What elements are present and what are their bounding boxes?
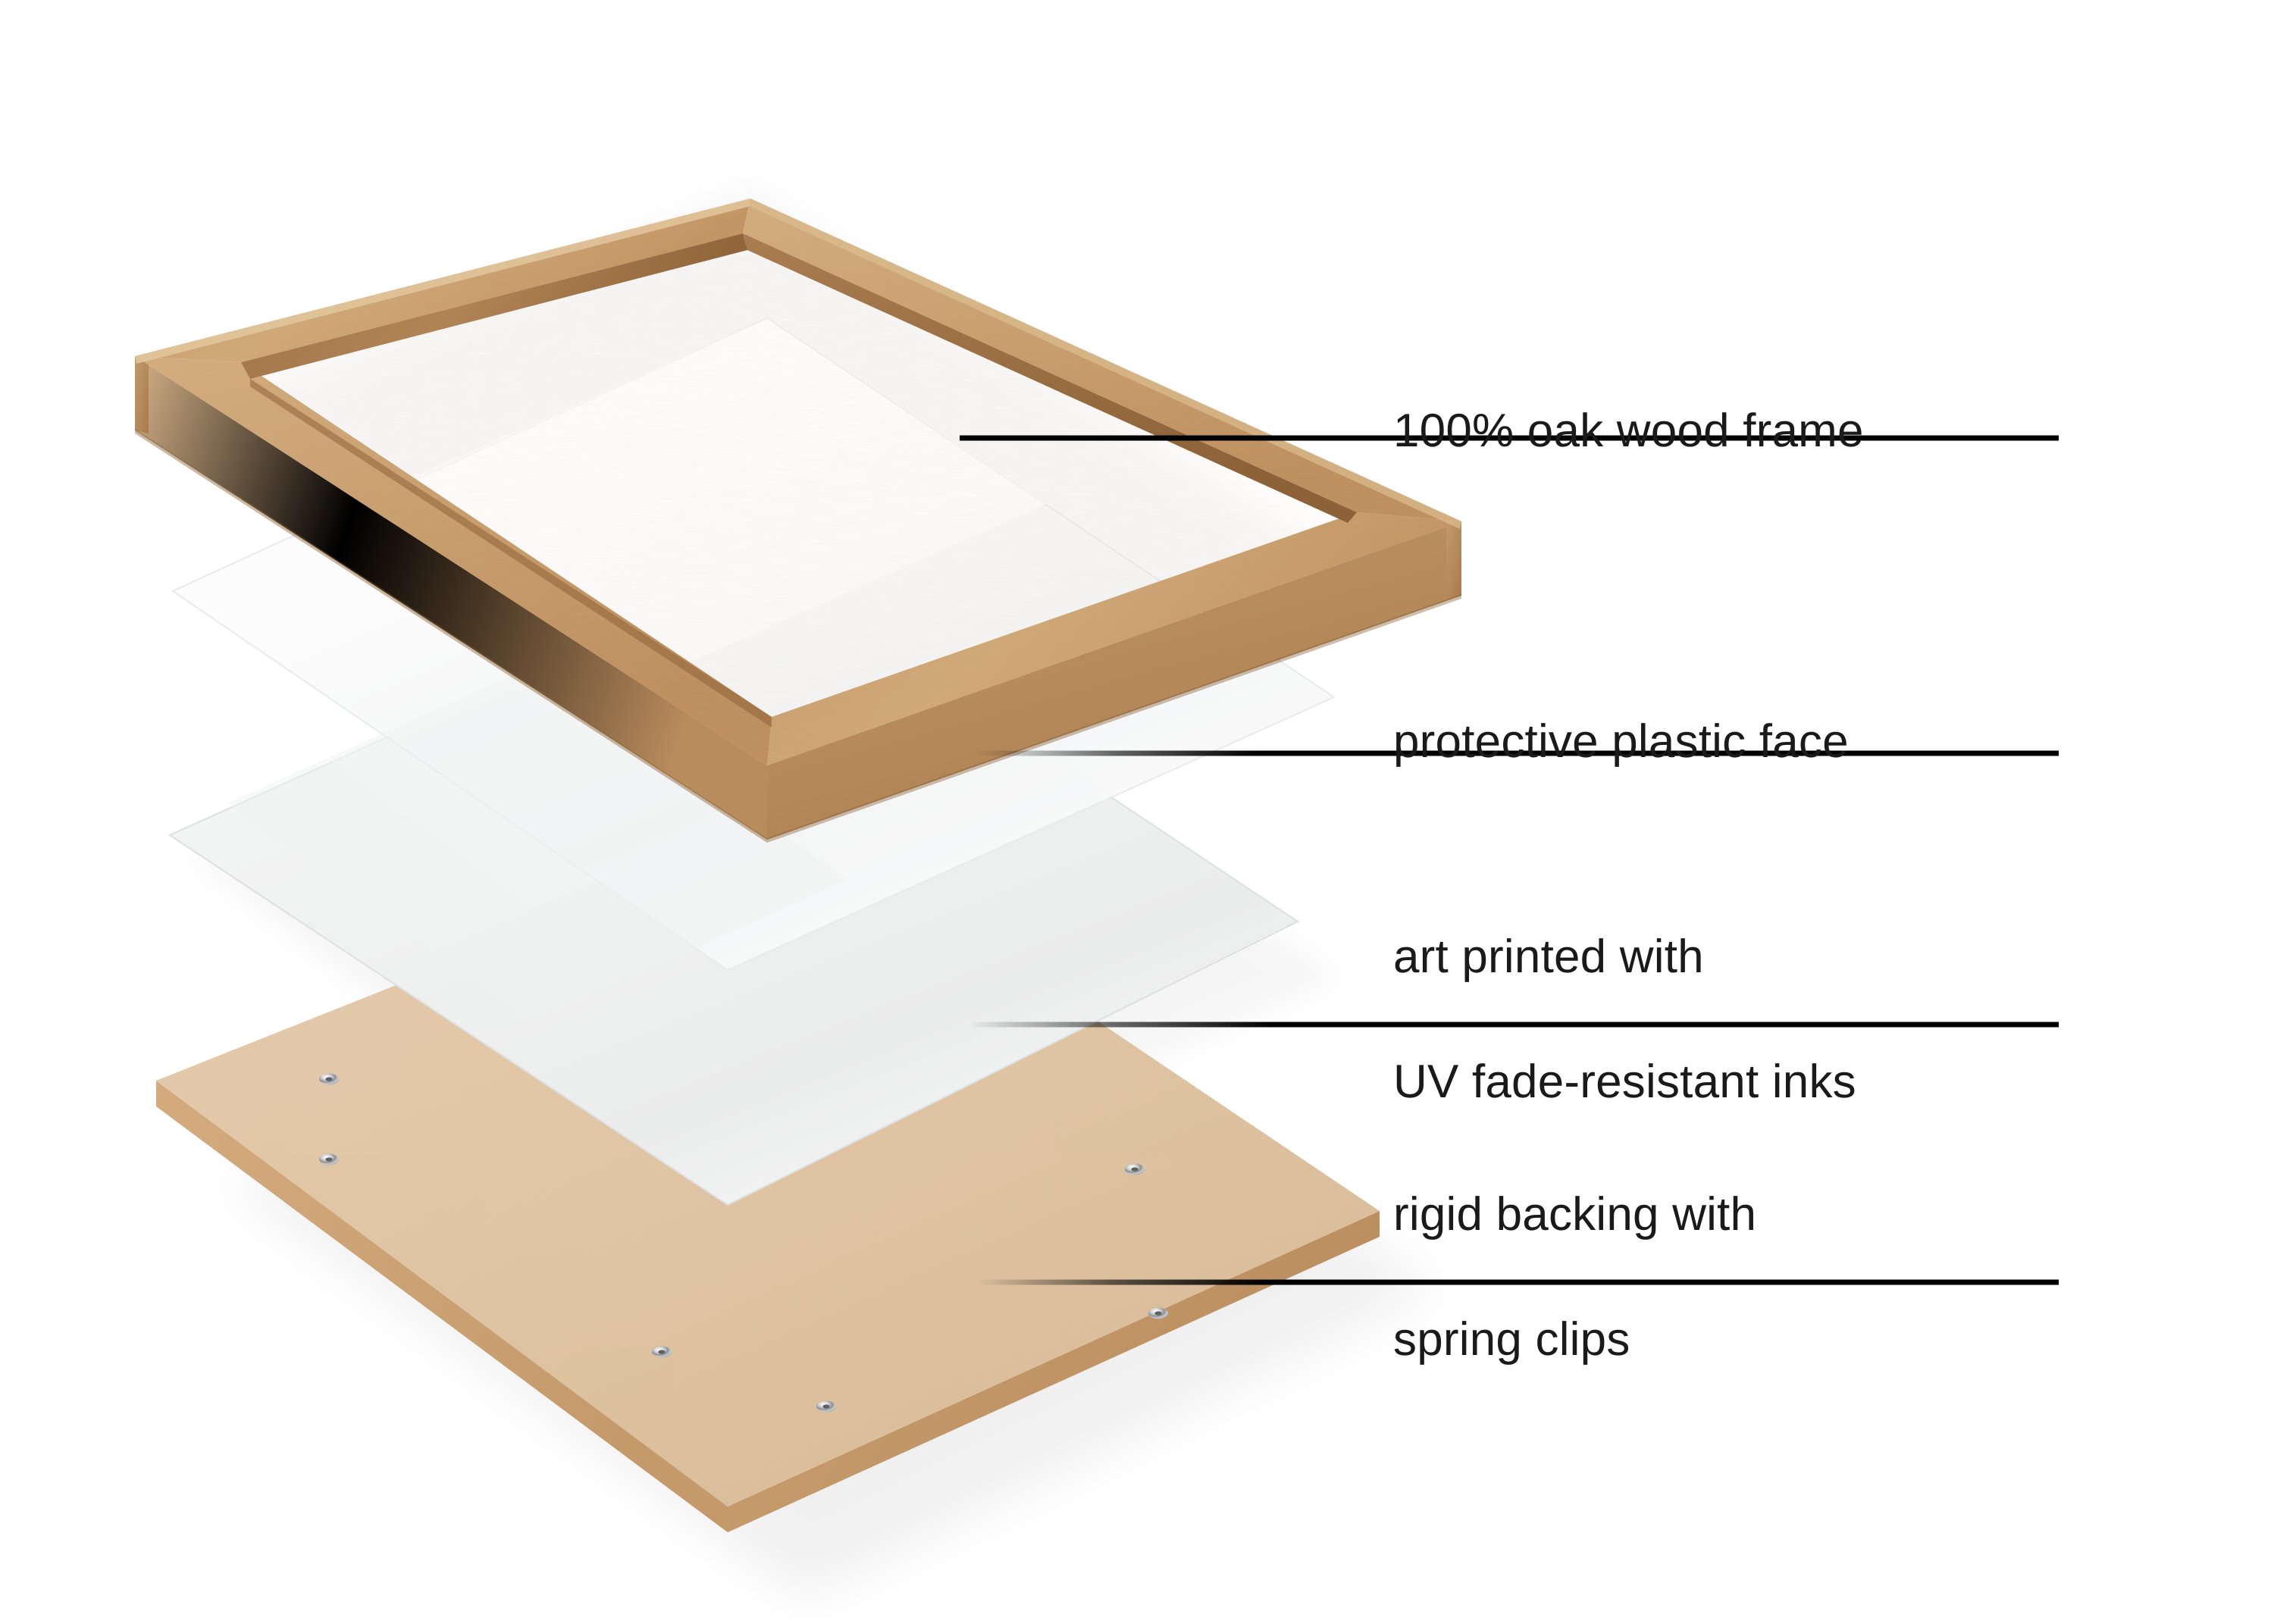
frame-corner-cap-left	[135, 356, 149, 433]
spring-clip	[1148, 1308, 1168, 1319]
callout-line: rigid backing with	[1393, 1184, 1756, 1246]
callout-line: protective plastic face	[1393, 711, 1849, 773]
spring-clip	[652, 1347, 672, 1358]
spring-clip	[816, 1401, 836, 1413]
callout-line: spring clips	[1393, 1309, 1756, 1371]
callout-label-protective-plastic-face: protective plastic face	[1393, 649, 1849, 836]
frame-corner-cap-right	[1446, 521, 1461, 599]
exploded-frame-diagram: 100% oak wood frame protective plastic f…	[0, 0, 2274, 1624]
exploded-view-illustration	[0, 0, 2274, 1624]
callout-label-rigid-backing-spring-clips: rigid backing with spring clips	[1393, 1122, 1756, 1434]
callout-line: 100% oak wood frame	[1393, 400, 1864, 462]
callout-label-oak-wood-frame: 100% oak wood frame	[1393, 338, 1864, 525]
spring-clip	[319, 1074, 339, 1085]
spring-clip	[1125, 1164, 1145, 1175]
callout-line: art printed with	[1393, 926, 1856, 988]
callout-line: UV fade-resistant inks	[1393, 1051, 1856, 1113]
spring-clip	[319, 1154, 339, 1166]
